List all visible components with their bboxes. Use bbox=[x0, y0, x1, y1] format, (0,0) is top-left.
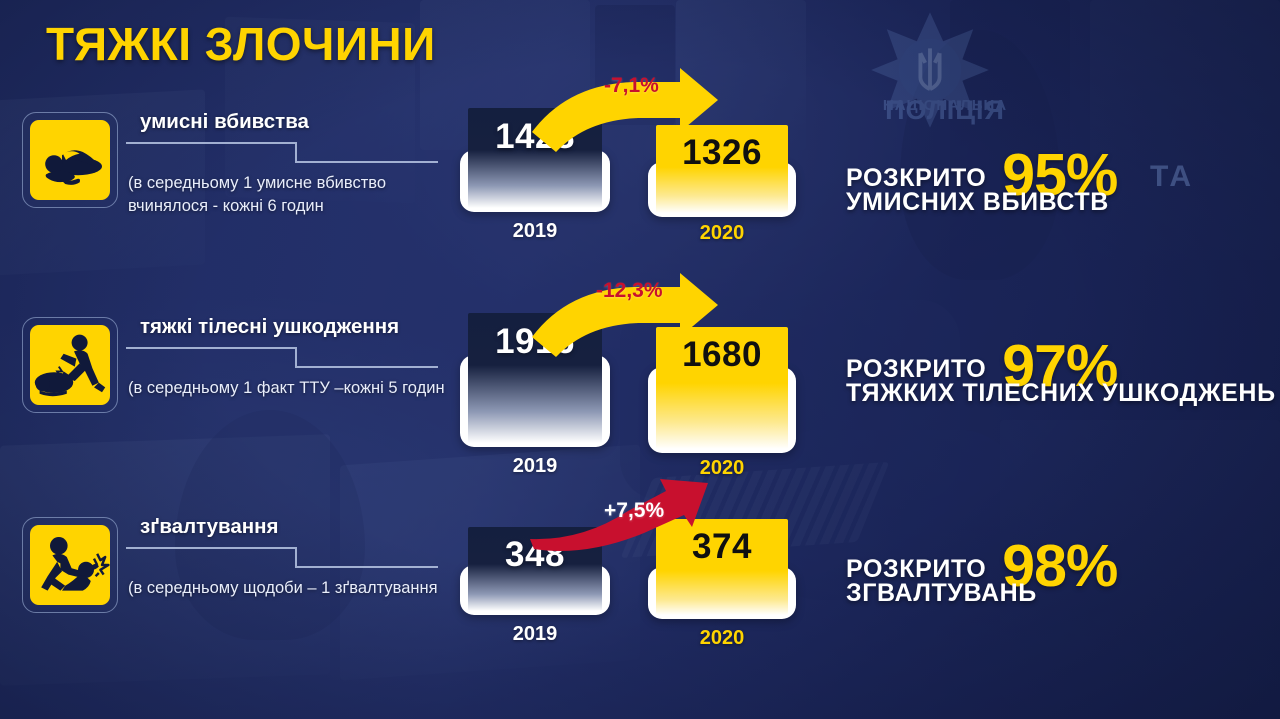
bar-year-2020: 2020 bbox=[656, 222, 788, 245]
bar-year-2019: 2019 bbox=[468, 220, 602, 243]
row-icon-frame bbox=[22, 517, 118, 613]
change-percent: -12,3% bbox=[596, 279, 663, 303]
crime-type-label: зґвалтування bbox=[140, 515, 279, 539]
body-on-ground-icon bbox=[30, 120, 110, 200]
crime-frequency-note: (в середньому 1 умисне вбивство вчинялос… bbox=[128, 172, 458, 219]
solved-category: УМИСНИХ ВБИВСТВ bbox=[846, 188, 1109, 217]
connector-line bbox=[126, 140, 446, 170]
crime-type-label: умисні вбивства bbox=[140, 110, 309, 134]
sexual-assault-icon bbox=[30, 525, 110, 605]
bar-year-2020: 2020 bbox=[656, 627, 788, 650]
connector-line bbox=[126, 545, 446, 575]
change-percent: -7,1% bbox=[604, 74, 659, 98]
infographic-canvas: НАЦІОНАЛЬНА ПОЛІЦІЯ ТА ТЯЖКІ ЗЛОЧИНИ уми… bbox=[0, 0, 1280, 719]
crime-row-rape: зґвалтування (в середньому щодоби – 1 зґ… bbox=[0, 505, 1280, 715]
crime-type-label: тяжкі тілесні ушкодження bbox=[140, 315, 399, 339]
solved-category: ЗГВАЛТУВАНЬ bbox=[846, 579, 1037, 608]
crime-frequency-note: (в середньому 1 факт ТТУ –кожні 5 годин bbox=[128, 377, 458, 400]
bar-year-2019: 2019 bbox=[468, 623, 602, 646]
crime-frequency-note: (в середньому щодоби – 1 зґвалтування bbox=[128, 577, 458, 600]
connector-line bbox=[126, 345, 446, 375]
solved-category: ТЯЖКИХ ТІЛЕСНИХ УШКОДЖЕНЬ bbox=[846, 379, 1276, 408]
change-percent: +7,5% bbox=[604, 499, 664, 523]
row-icon-frame bbox=[22, 317, 118, 413]
row-icon-frame bbox=[22, 112, 118, 208]
page-title: ТЯЖКІ ЗЛОЧИНИ bbox=[46, 17, 436, 71]
assault-kick-icon bbox=[30, 325, 110, 405]
